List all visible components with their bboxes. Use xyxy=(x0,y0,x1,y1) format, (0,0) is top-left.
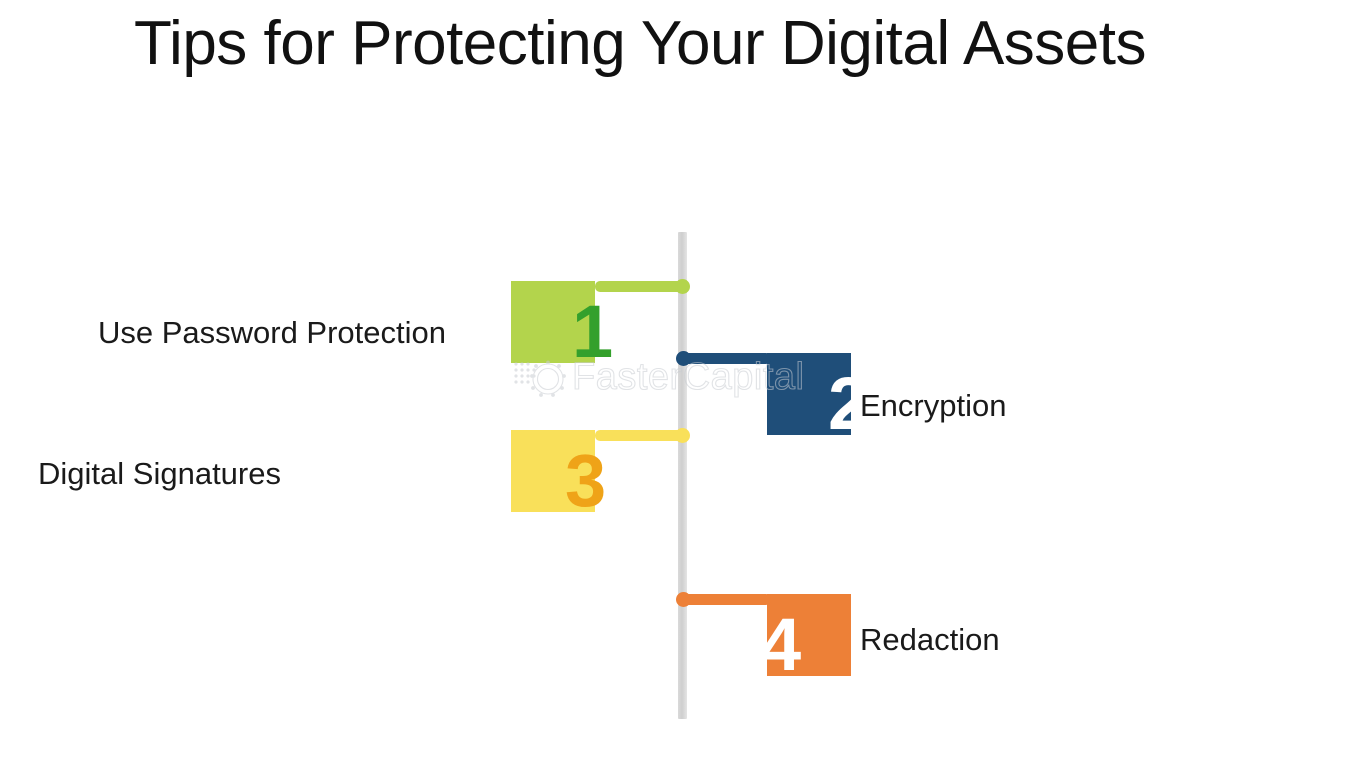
step-number-4: 4 xyxy=(760,608,801,682)
step-connector-dot-2 xyxy=(676,351,691,366)
step-connector-dot-4 xyxy=(676,592,691,607)
step-connector-dot-3 xyxy=(675,428,690,443)
step-number-3: 3 xyxy=(565,444,606,518)
step-label-4: Redaction xyxy=(860,622,1280,658)
timeline-axis xyxy=(678,232,687,719)
step-connector-dot-1 xyxy=(675,279,690,294)
step-number-1: 1 xyxy=(572,295,613,369)
step-connector-2 xyxy=(681,353,771,364)
step-connector-4 xyxy=(681,594,771,605)
step-label-2: Encryption xyxy=(860,388,1280,424)
slide-canvas: Tips for Protecting Your Digital Assets … xyxy=(0,0,1359,759)
step-label-1: Use Password Protection xyxy=(0,315,446,351)
step-label-3: Digital Signatures xyxy=(0,456,281,492)
page-title: Tips for Protecting Your Digital Assets xyxy=(0,8,1280,79)
step-connector-3 xyxy=(595,430,684,441)
